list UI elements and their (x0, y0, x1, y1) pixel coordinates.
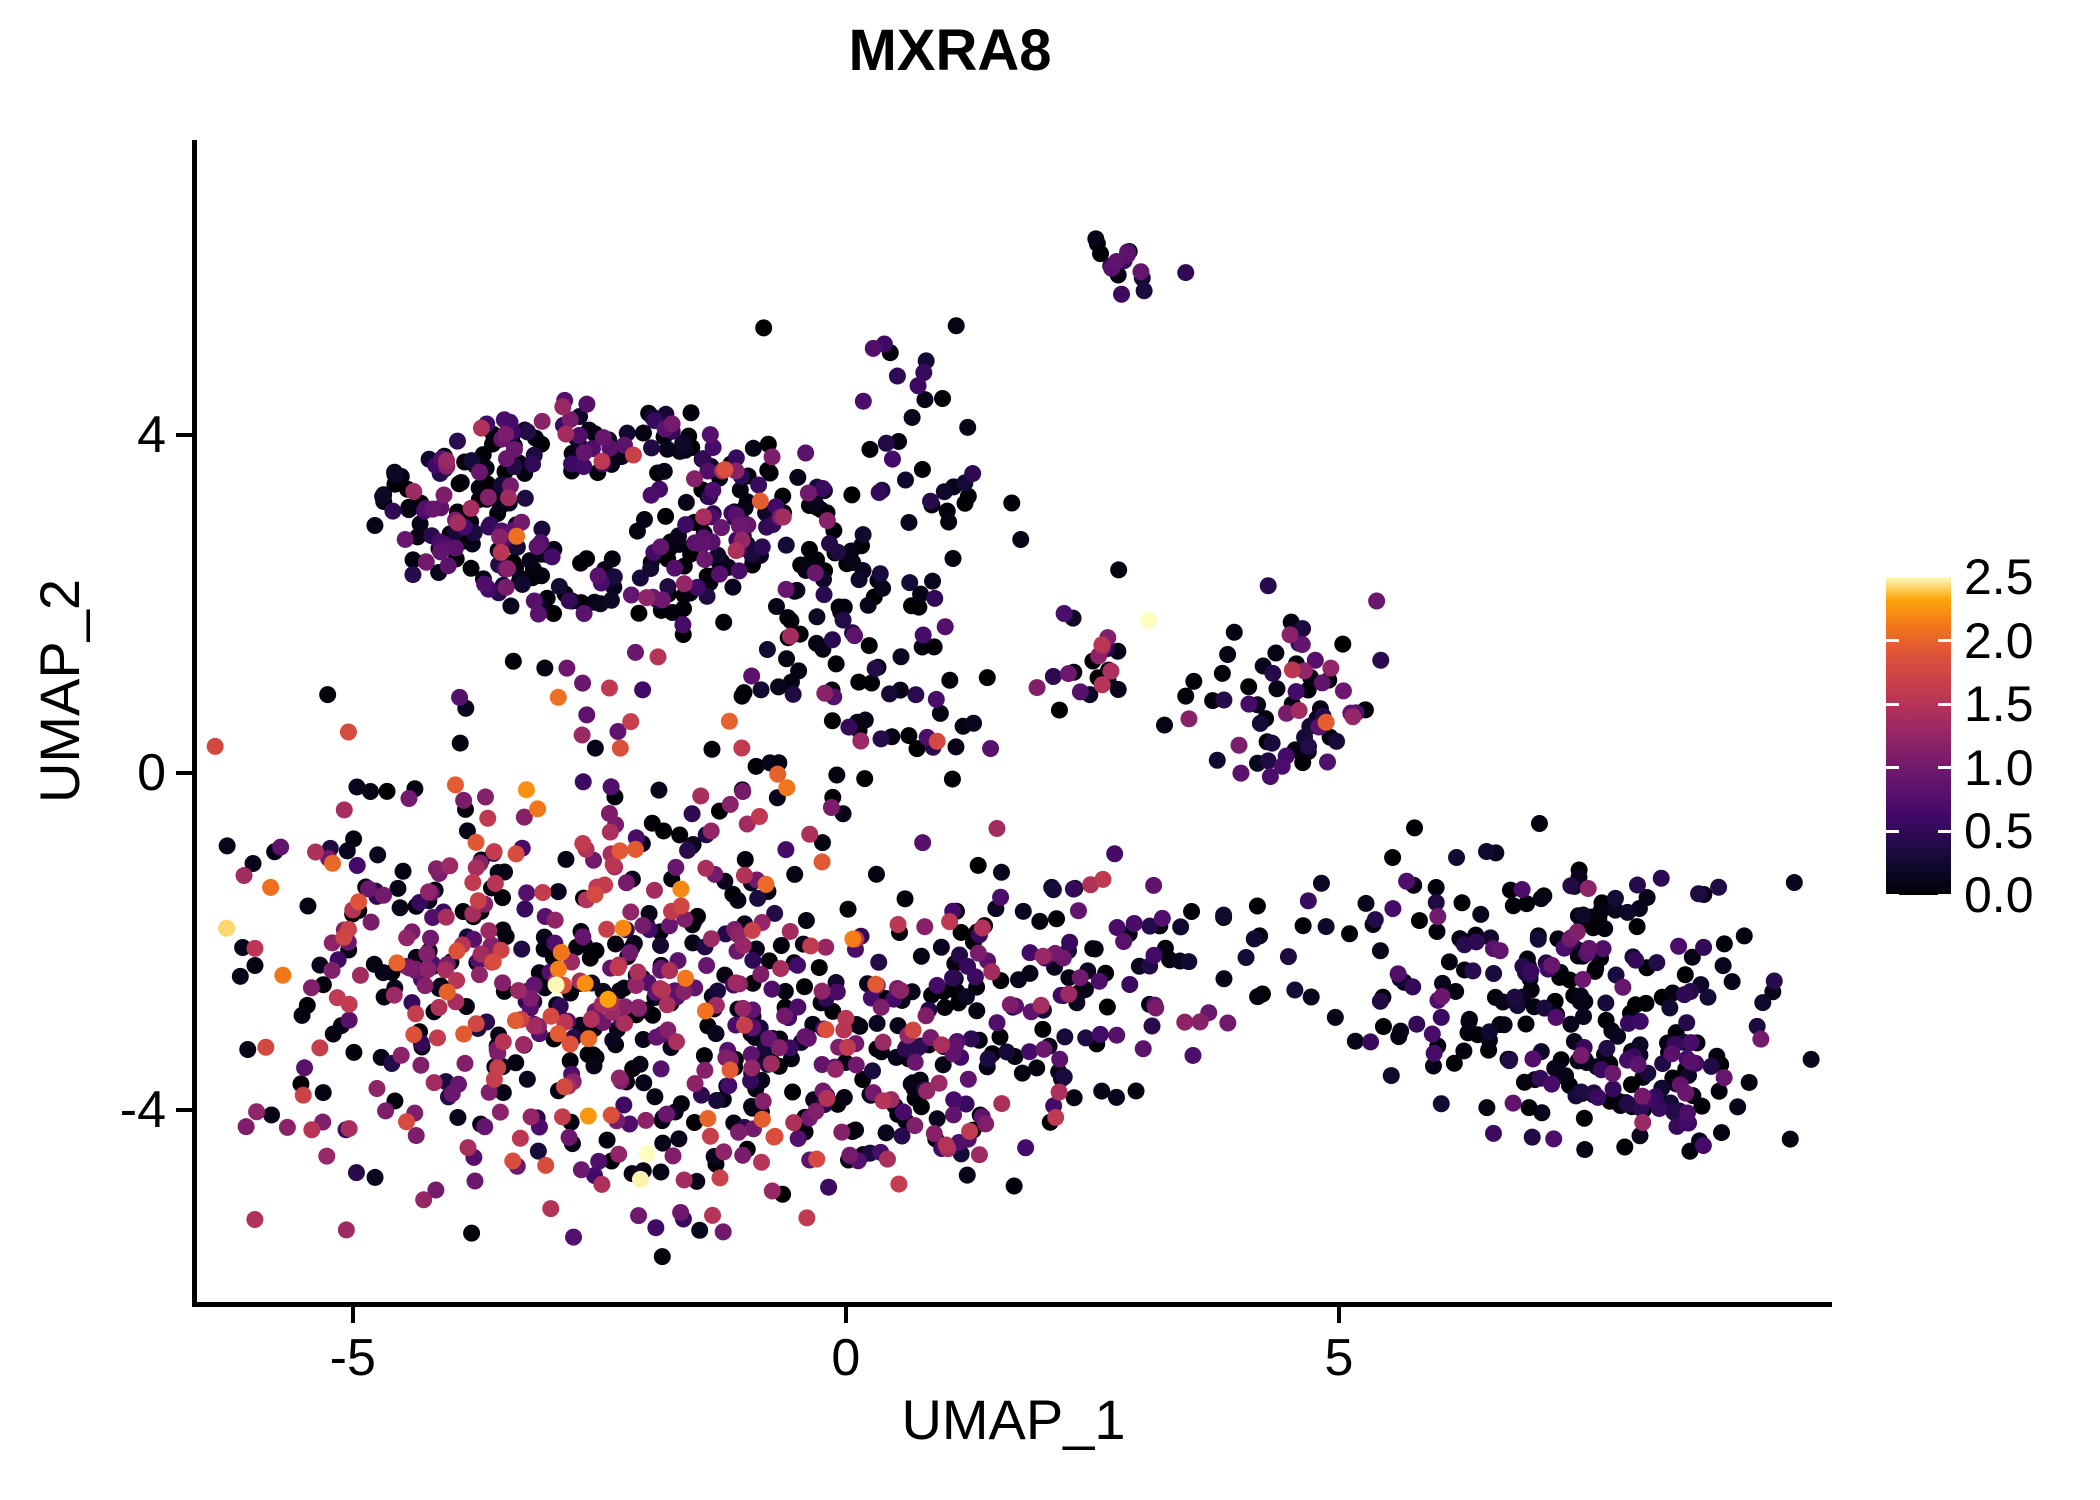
scatter-point (737, 851, 754, 868)
scatter-point (577, 975, 594, 992)
scatter-point (1300, 738, 1317, 755)
scatter-point (1183, 903, 1200, 920)
scatter-point (587, 886, 604, 903)
x-tick-mark--5 (351, 1307, 355, 1323)
scatter-point (944, 969, 961, 986)
scatter-point (424, 501, 441, 518)
scatter-point (379, 783, 396, 800)
scatter-point (239, 1041, 256, 1058)
scatter-point (1384, 849, 1401, 866)
scatter-point (519, 423, 536, 440)
scatter-point (1531, 815, 1548, 832)
scatter-point (808, 1151, 825, 1168)
scatter-point (992, 889, 1009, 906)
scatter-point (676, 575, 693, 592)
scatter-point (650, 648, 667, 665)
scatter-point (1115, 933, 1132, 950)
scatter-point (1506, 989, 1523, 1006)
scatter-point (1724, 973, 1741, 990)
scatter-point (506, 441, 523, 458)
scatter-point (1485, 965, 1502, 982)
scatter-point (696, 1047, 713, 1064)
scatter-point (855, 526, 872, 543)
scatter-point (833, 1124, 850, 1141)
scatter-point (646, 882, 663, 899)
scatter-point (672, 1204, 689, 1221)
scatter-point (716, 461, 733, 478)
scatter-point (827, 1061, 844, 1078)
scatter-point (979, 669, 996, 686)
scatter-point (875, 1034, 892, 1051)
scatter-point (1231, 737, 1248, 754)
scatter-point (1448, 849, 1465, 866)
scatter-point (635, 1074, 652, 1091)
scatter-point (1576, 1141, 1593, 1158)
scatter-point (1543, 957, 1560, 974)
scatter-point (1047, 1109, 1064, 1126)
scatter-point (755, 319, 772, 336)
scatter-point (1291, 702, 1308, 719)
scatter-point (395, 863, 412, 880)
scatter-point (1215, 907, 1232, 924)
scatter-point (789, 469, 806, 486)
scatter-point (1575, 907, 1592, 924)
scatter-point (1455, 1042, 1472, 1059)
scatter-point (412, 1057, 429, 1074)
scatter-point (753, 681, 770, 698)
scatter-point (523, 1108, 540, 1125)
scatter-point (585, 1057, 602, 1074)
scatter-point (1034, 1021, 1051, 1038)
scatter-point (959, 1167, 976, 1184)
scatter-point (550, 689, 567, 706)
scatter-point (1334, 636, 1351, 653)
scatter-point (405, 483, 422, 500)
scatter-point (497, 426, 514, 443)
scatter-point (647, 1219, 664, 1236)
scatter-point (618, 874, 635, 891)
scatter-point (873, 999, 890, 1016)
scatter-point (1433, 1009, 1450, 1026)
scatter-point (857, 712, 874, 729)
scatter-point (632, 1056, 649, 1073)
scatter-point (735, 937, 752, 954)
scatter-point (1713, 1124, 1730, 1141)
scatter-point (610, 1146, 627, 1163)
scatter-point (1677, 1085, 1694, 1102)
scatter-point (752, 493, 769, 510)
scatter-point (724, 579, 741, 596)
scatter-point (844, 931, 861, 948)
scatter-point (576, 605, 593, 622)
scatter-point (516, 900, 533, 917)
scatter-point (438, 909, 455, 926)
scatter-point (515, 1036, 532, 1053)
scatter-point (945, 1106, 962, 1123)
scatter-point (236, 867, 253, 884)
scatter-point (1592, 903, 1609, 920)
scatter-point (775, 508, 792, 525)
scatter-point (1408, 1016, 1425, 1033)
page-title: MXRA8 (0, 22, 1900, 80)
scatter-point (841, 1147, 858, 1164)
scatter-point (1629, 918, 1646, 935)
scatter-point (1548, 1009, 1565, 1026)
scatter-point (971, 1146, 988, 1163)
scatter-point (1154, 910, 1171, 927)
color-legend: 2.52.01.51.00.50.0 (1886, 577, 2096, 907)
scatter-point (1754, 994, 1771, 1011)
scatter-point (603, 1107, 620, 1124)
scatter-point (673, 898, 690, 915)
scatter-point (907, 686, 924, 703)
scatter-point (451, 689, 468, 706)
scatter-point (1505, 897, 1522, 914)
scatter-point (864, 1062, 881, 1079)
scatter-point (1066, 1089, 1083, 1106)
scatter-point (1093, 1083, 1110, 1100)
scatter-point (1249, 988, 1266, 1005)
scatter-point (1051, 702, 1068, 719)
scatter-point (670, 1130, 687, 1147)
scatter-point (1367, 911, 1384, 928)
scatter-point (735, 684, 752, 701)
scatter-point (1145, 947, 1162, 964)
scatter-point (846, 627, 863, 644)
scatter-point (369, 846, 386, 863)
scatter-point (1214, 665, 1231, 682)
scatter-point (926, 590, 943, 607)
scatter-point (386, 466, 403, 483)
scatter-point (598, 921, 615, 938)
scatter-point (1522, 963, 1539, 980)
scatter-point (1260, 577, 1277, 594)
scatter-point (652, 1164, 669, 1181)
scatter-point (1703, 1058, 1720, 1075)
scatter-point (653, 1060, 670, 1077)
scatter-point (773, 937, 790, 954)
scatter-point (944, 771, 961, 788)
scatter-point (658, 1106, 675, 1123)
scatter-point (818, 1090, 835, 1107)
scatter-point (491, 529, 508, 546)
scatter-point (1372, 993, 1389, 1010)
scatter-point (407, 1005, 424, 1022)
scatter-point (672, 881, 689, 898)
scatter-point (1240, 696, 1257, 713)
scatter-point (315, 1084, 332, 1101)
scatter-point (1185, 673, 1202, 690)
scatter-point (492, 1104, 509, 1121)
scatter-point (1682, 1053, 1699, 1070)
scatter-point (900, 514, 917, 531)
scatter-point (551, 578, 568, 595)
scatter-point (1514, 881, 1531, 898)
scatter-point (744, 922, 761, 939)
scatter-point (828, 655, 845, 672)
scatter-point (307, 844, 324, 861)
scatter-point (1184, 1047, 1201, 1064)
scatter-point (771, 1039, 788, 1056)
scatter-point (807, 1103, 824, 1120)
scatter-point (1056, 1068, 1073, 1085)
scatter-point (1091, 973, 1108, 990)
scatter-point (906, 1117, 923, 1134)
scatter-point (938, 1136, 955, 1153)
scatter-point (936, 483, 953, 500)
scatter-point (542, 1008, 559, 1025)
scatter-point (485, 953, 502, 970)
scatter-point (890, 916, 907, 933)
scatter-point (814, 480, 831, 497)
scatter-point (630, 605, 647, 622)
legend-colorbar[interactable] (1886, 577, 1951, 895)
scatter-point (1031, 913, 1048, 930)
x-axis-line (195, 1302, 1832, 1307)
scatter-point (448, 942, 465, 959)
scatter-point (958, 988, 975, 1005)
scatter-point (447, 776, 464, 793)
scatter-point (449, 514, 466, 531)
scatter-point (449, 1109, 466, 1126)
scatter-point (366, 517, 383, 534)
scatter-point (246, 957, 263, 974)
scatter-point (505, 653, 522, 670)
scatter-point (1375, 1018, 1392, 1035)
scatter-point (643, 439, 660, 456)
scatter-point (573, 1161, 590, 1178)
scatter-point (507, 1012, 524, 1029)
scatter-point (455, 1026, 472, 1043)
scatter-point (897, 471, 914, 488)
scatter-point (341, 1120, 358, 1137)
scatter-point (1752, 1031, 1769, 1048)
scatter-point (517, 490, 534, 507)
scatter-point (1424, 1026, 1441, 1043)
scatter-point (578, 396, 595, 413)
scatter-point (533, 567, 550, 584)
scatter-point (550, 883, 567, 900)
scatter-point (702, 1128, 719, 1145)
scatter-point (1433, 1095, 1450, 1112)
scatter-point (677, 970, 694, 987)
scatter-point (814, 853, 831, 870)
scatter-point (638, 589, 655, 606)
scatter-point (632, 1171, 649, 1188)
scatter-point (914, 461, 931, 478)
scatter-point (931, 1075, 948, 1092)
scatter-point (405, 1026, 422, 1043)
scatter-point (703, 741, 720, 758)
scatter-point (1390, 965, 1407, 982)
scatter-point (1581, 940, 1598, 957)
scatter-point (989, 1014, 1006, 1031)
scatter-point (415, 1191, 432, 1208)
scatter-point (319, 686, 336, 703)
scatter-point (1033, 997, 1050, 1014)
scatter-point (839, 1039, 856, 1056)
scatter-point (514, 576, 531, 593)
scatter-point (408, 1127, 425, 1144)
scatter-point (1677, 966, 1694, 983)
scatter-point (565, 1229, 582, 1246)
scatter-point (576, 444, 593, 461)
scatter-point (817, 1021, 834, 1038)
scatter-point (508, 845, 525, 862)
scatter-point (837, 1010, 854, 1027)
scatter-point (644, 815, 661, 832)
scatter-point (1782, 1131, 1799, 1148)
scatter-point (207, 738, 224, 755)
scatter-point (721, 713, 738, 730)
legend-tick-right-2 (1938, 703, 1951, 706)
scatter-point (1574, 971, 1591, 988)
scatter-point (303, 979, 320, 996)
scatter-point (1280, 948, 1297, 965)
scatter-point (711, 566, 728, 583)
scatter-point (611, 842, 628, 859)
scatter-point (1219, 646, 1236, 663)
scatter-point (1056, 605, 1073, 622)
scatter-point (1460, 1013, 1477, 1030)
scatter-point (1546, 1060, 1563, 1077)
scatter-point (630, 1207, 647, 1224)
scatter-point (1411, 912, 1428, 929)
scatter-point (870, 954, 887, 971)
scatter-point (988, 820, 1005, 837)
scatter-point (580, 1107, 597, 1124)
scatter-point (936, 999, 953, 1016)
scatter-point (945, 550, 962, 567)
scatter-point (914, 834, 931, 851)
scatter-point (1741, 1074, 1758, 1091)
scatter-point (867, 660, 884, 677)
scatter-point (1627, 996, 1644, 1013)
scatter-point (537, 1157, 554, 1174)
scatter-point (713, 519, 730, 536)
scatter-point (676, 1172, 693, 1189)
scatter-point (1572, 987, 1589, 1004)
scatter-point (1616, 1138, 1633, 1155)
scatter-point (398, 1113, 415, 1130)
scatter-point (916, 918, 933, 935)
scatter-point (1670, 938, 1687, 955)
scatter-point (778, 650, 795, 667)
scatter-point (449, 433, 466, 450)
scatter-point (1303, 989, 1320, 1006)
scatter-point (934, 390, 951, 407)
scatter-point (796, 1028, 813, 1045)
scatter-point (767, 1128, 784, 1145)
scatter-point (785, 1114, 802, 1131)
scatter-point (400, 790, 417, 807)
scatter-point (654, 591, 671, 608)
scatter-point (1180, 953, 1197, 970)
scatter-point (452, 735, 469, 752)
scatter-point (778, 537, 795, 554)
scatter-point (534, 884, 551, 901)
scatter-point (1051, 1084, 1068, 1101)
scatter-point (980, 1050, 997, 1067)
scatter-point (1648, 954, 1665, 971)
scatter-point (1002, 996, 1019, 1013)
scatter-point (696, 551, 713, 568)
scatter-point (1145, 877, 1162, 894)
scatter-point (652, 937, 669, 954)
scatter-point (789, 957, 806, 974)
scatter-point (722, 796, 739, 813)
scatter-point (246, 1211, 263, 1228)
scatter-point (1766, 973, 1783, 990)
scatter-point (802, 937, 819, 954)
scatter-point (652, 538, 669, 555)
scatter-point (1406, 819, 1423, 836)
scatter-point (797, 445, 814, 462)
scatter-point (785, 686, 802, 703)
scatter-point (868, 866, 885, 883)
y-tick-label--4: -4 (40, 1084, 166, 1136)
scatter-point (480, 489, 497, 506)
scatter-point (1108, 253, 1125, 270)
scatter-point (1736, 927, 1753, 944)
scatter-point (1347, 1033, 1364, 1050)
scatter-point (1496, 1016, 1513, 1033)
scatter-point (1264, 735, 1281, 752)
scatter-point (1232, 765, 1249, 782)
x-tick-label--5: -5 (273, 1332, 433, 1384)
scatter-point (512, 1130, 529, 1147)
scatter-point (764, 1183, 781, 1200)
scatter-point (1589, 1089, 1606, 1106)
scatter-point (630, 999, 647, 1016)
scatter-point (246, 940, 263, 957)
scatter-point (998, 1043, 1015, 1060)
scatter-point (519, 1071, 536, 1088)
scatter-point (924, 573, 941, 590)
scatter-point (578, 706, 595, 723)
scatter-point (816, 685, 833, 702)
scatter-point (764, 448, 781, 465)
scatter-point (590, 1153, 607, 1170)
scatter-point (218, 920, 235, 937)
scatter-point (348, 1164, 365, 1181)
scatter-point (814, 983, 831, 1000)
scatter-point (1318, 918, 1335, 935)
scatter-point (1322, 660, 1339, 677)
scatter-point (1077, 1029, 1094, 1046)
scatter-point (513, 941, 530, 958)
scatter-point (910, 377, 927, 394)
scatter-point (1132, 263, 1149, 280)
scatter-point (736, 1017, 753, 1034)
scatter-point (1614, 979, 1631, 996)
scatter-point (272, 839, 289, 856)
scatter-point (983, 963, 1000, 980)
scatter-point (470, 892, 487, 909)
scatter-point (878, 1124, 895, 1141)
scatter-point (915, 626, 932, 643)
scatter-point (821, 535, 838, 552)
scatter-point (758, 876, 775, 893)
scatter-point (418, 945, 435, 962)
scatter-point (947, 738, 964, 755)
x-tick-mark-5 (1337, 1307, 1341, 1323)
scatter-point (578, 550, 595, 567)
scatter-point (426, 1074, 443, 1091)
scatter-point (504, 1153, 521, 1170)
scatter-point (1284, 661, 1301, 678)
scatter-point (1481, 1023, 1498, 1040)
